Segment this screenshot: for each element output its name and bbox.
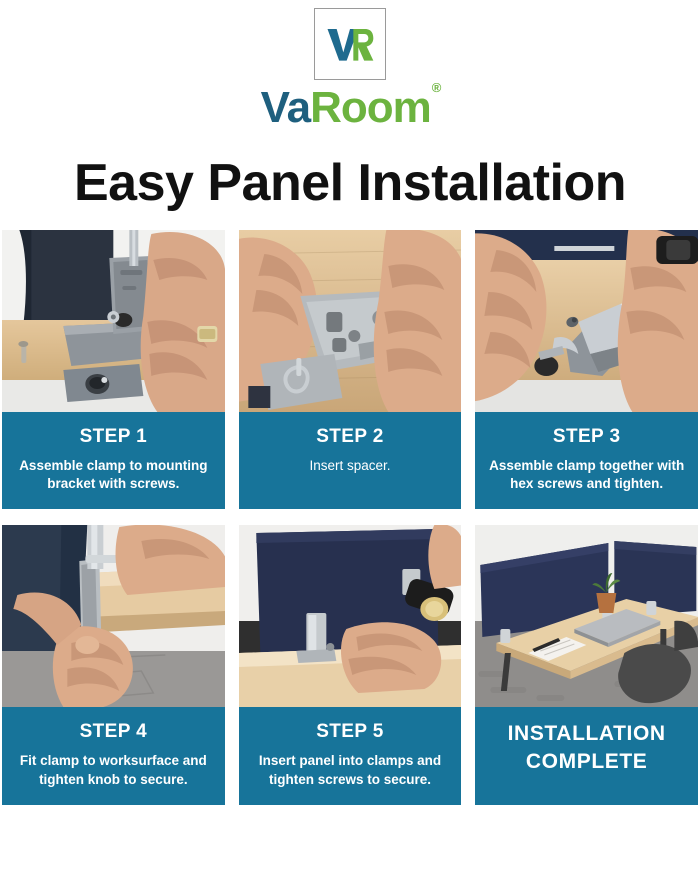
step-2-body: Insert spacer.: [309, 457, 390, 475]
step-5-title: STEP 5: [316, 721, 384, 743]
step-1-caption: STEP 1 Assemble clamp to mounting bracke…: [2, 412, 225, 509]
step-5-body: Insert panel into clamps and tighten scr…: [247, 752, 454, 788]
step-1-body: Assemble clamp to mounting bracket with …: [10, 457, 217, 493]
step-card-6: INSTALLATION COMPLETE: [475, 525, 698, 804]
wordmark-room: Room: [310, 83, 431, 132]
varoom-logo-icon: [314, 8, 386, 80]
wordmark-va: Va: [261, 83, 310, 132]
step-2-caption: STEP 2 Insert spacer.: [239, 412, 462, 509]
step-2-photo: [239, 230, 462, 412]
registered-trademark-icon: ®: [432, 80, 441, 95]
installation-complete-text: INSTALLATION COMPLETE: [483, 720, 690, 777]
steps-grid: STEP 1 Assemble clamp to mounting bracke…: [2, 230, 698, 805]
step-2-title: STEP 2: [316, 426, 384, 448]
step-3-title: STEP 3: [553, 426, 621, 448]
step-card-4: STEP 4 Fit clamp to worksurface and tigh…: [2, 525, 225, 804]
step-4-body: Fit clamp to worksurface and tighten kno…: [10, 752, 217, 788]
step-4-title: STEP 4: [80, 721, 148, 743]
brand-header: VaRoom®: [0, 0, 700, 130]
step-3-caption: STEP 3 Assemble clamp together with hex …: [475, 412, 698, 509]
step-4-photo: [2, 525, 225, 707]
step-card-1: STEP 1 Assemble clamp to mounting bracke…: [2, 230, 225, 509]
step-4-caption: STEP 4 Fit clamp to worksurface and tigh…: [2, 707, 225, 804]
step-card-3: STEP 3 Assemble clamp together with hex …: [475, 230, 698, 509]
step-3-photo: [475, 230, 698, 412]
installation-complete-photo: [475, 525, 698, 707]
step-card-2: STEP 2 Insert spacer.: [239, 230, 462, 509]
page-title: Easy Panel Installation: [0, 156, 700, 211]
step-card-5: STEP 5 Insert panel into clamps and tigh…: [239, 525, 462, 804]
step-1-photo: [2, 230, 225, 412]
installation-complete-caption: INSTALLATION COMPLETE: [475, 707, 698, 804]
step-5-photo: [239, 525, 462, 707]
varoom-wordmark: VaRoom®: [261, 86, 440, 130]
step-1-title: STEP 1: [80, 426, 148, 448]
installation-infographic: VaRoom® Easy Panel Installation: [0, 0, 700, 879]
step-5-caption: STEP 5 Insert panel into clamps and tigh…: [239, 707, 462, 804]
step-3-body: Assemble clamp together with hex screws …: [483, 457, 690, 493]
